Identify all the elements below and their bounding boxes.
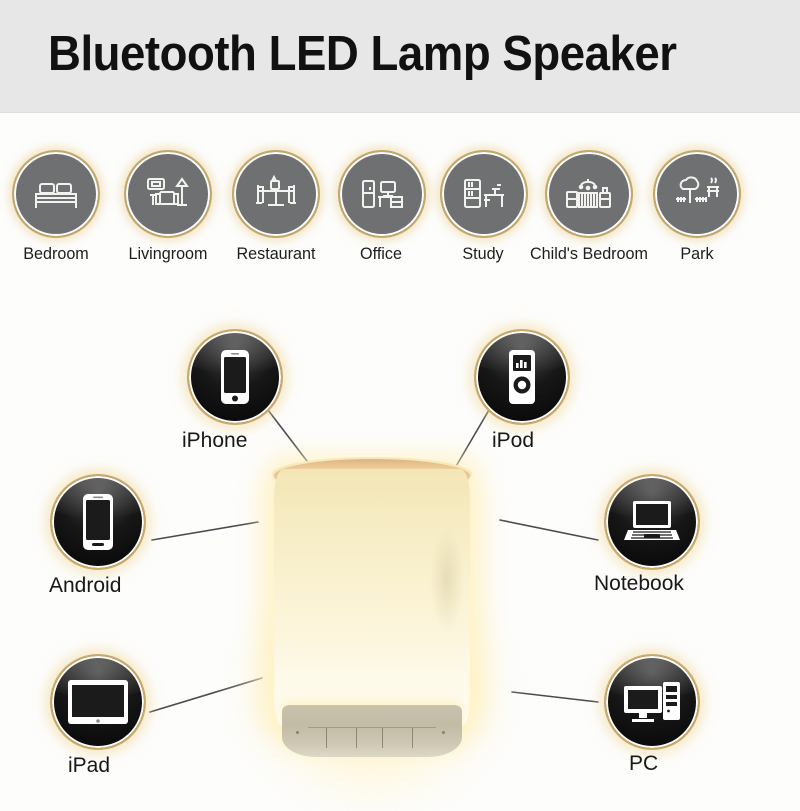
scene-label: Livingroom [115, 244, 221, 264]
device-ipod[interactable]: iPod [474, 329, 570, 425]
sofa-tv-lamp-icon [124, 150, 212, 238]
lamp-speaker-base [282, 705, 462, 757]
base-control-panel[interactable] [308, 727, 436, 750]
office-desk-icon [338, 150, 426, 238]
ipod-player-icon [474, 329, 570, 425]
base-indicator-left [296, 731, 299, 734]
device-label: iPad [68, 754, 110, 778]
base-button-divider [326, 728, 327, 748]
device-iphone[interactable]: iPhone [187, 329, 283, 425]
scene-restaurant[interactable]: Restaurant [222, 150, 330, 264]
dining-table-icon [232, 150, 320, 238]
title-banner: Bluetooth LED Lamp Speaker [0, 0, 800, 113]
base-indicator-right [442, 731, 445, 734]
usage-scenarios-row: Bedroom Livingroom [0, 150, 800, 280]
scene-label: Office [340, 244, 422, 264]
device-android[interactable]: Android [50, 474, 146, 570]
scene-label: Study [442, 244, 524, 264]
device-label: iPod [492, 429, 534, 453]
crib-icon [545, 150, 633, 238]
device-label: PC [629, 752, 658, 776]
tree-bench-icon [653, 150, 741, 238]
lamp-diffuser-body [274, 469, 470, 727]
laptop-icon [604, 474, 700, 570]
scene-bedroom[interactable]: Bedroom [12, 150, 100, 264]
base-button-divider [356, 728, 357, 748]
tablet-icon [50, 654, 146, 750]
desktop-pc-icon [604, 654, 700, 750]
device-label: iPhone [182, 429, 247, 453]
scene-livingroom[interactable]: Livingroom [112, 150, 224, 264]
scene-label: Park [652, 244, 741, 264]
device-pc[interactable]: PC [604, 654, 700, 750]
scene-label: Bedroom [14, 244, 98, 264]
smartphone-icon [187, 329, 283, 425]
device-notebook[interactable]: Notebook [604, 474, 700, 570]
scene-label: Child's Bedroom [522, 244, 657, 264]
scene-study[interactable]: Study [440, 150, 526, 264]
device-label: Android [49, 574, 121, 598]
product-infographic: Bluetooth LED Lamp Speaker Bedroom [0, 0, 800, 800]
bookshelf-desk-icon [440, 150, 528, 238]
led-lamp-speaker-product [252, 455, 492, 775]
scene-childs-bedroom[interactable]: Child's Bedroom [518, 150, 660, 264]
page-title: Bluetooth LED Lamp Speaker [48, 26, 677, 82]
device-ipad[interactable]: iPad [50, 654, 146, 750]
bed-icon [12, 150, 100, 238]
android-phone-icon [50, 474, 146, 570]
base-button-divider [412, 728, 413, 748]
scene-office[interactable]: Office [338, 150, 424, 264]
base-button-divider [382, 728, 383, 748]
scene-park[interactable]: Park [650, 150, 744, 264]
device-label: Notebook [594, 572, 684, 596]
scene-label: Restaurant [225, 244, 328, 264]
